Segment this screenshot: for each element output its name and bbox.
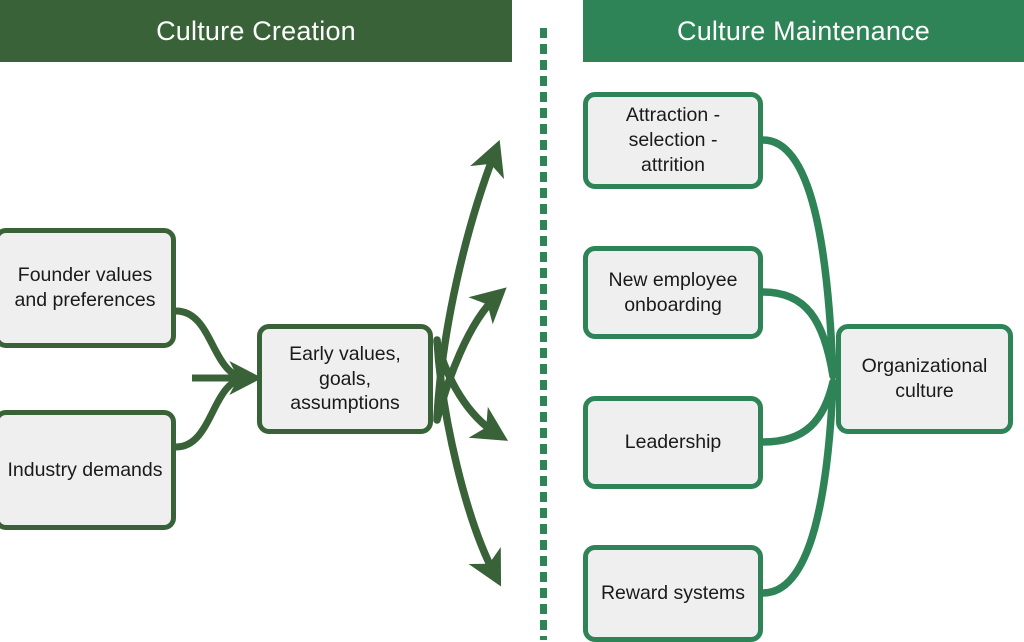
node-industry-demands[interactable]: Industry demands bbox=[0, 410, 176, 530]
node-leadership-label: Leadership bbox=[625, 430, 722, 455]
edge-early-to-attraction bbox=[437, 152, 495, 418]
node-industry-demands-label: Industry demands bbox=[7, 458, 162, 483]
section-header-culture-maintenance-label: Culture Maintenance bbox=[677, 16, 930, 47]
edge-industry-to-early bbox=[176, 378, 248, 447]
node-reward-systems[interactable]: Reward systems bbox=[583, 545, 763, 642]
section-header-culture-maintenance: Culture Maintenance bbox=[583, 0, 1024, 62]
node-attraction-selection-attrition[interactable]: Attraction - selection - attrition bbox=[583, 92, 763, 189]
node-early-values-label: Early values, goals, assumptions bbox=[270, 342, 420, 417]
edge-attraction-to-orgculture bbox=[763, 140, 833, 374]
edge-early-to-leadership bbox=[437, 342, 497, 434]
edge-early-to-reward bbox=[437, 340, 495, 575]
edge-leadership-to-orgculture bbox=[763, 382, 833, 442]
edge-reward-to-orgculture bbox=[763, 384, 833, 593]
node-new-employee-onboarding-label: New employee onboarding bbox=[596, 268, 750, 318]
node-new-employee-onboarding[interactable]: New employee onboarding bbox=[583, 246, 763, 339]
edge-onboarding-to-orgculture bbox=[763, 292, 833, 376]
node-organizational-culture-label: Organizational culture bbox=[849, 354, 1000, 404]
node-attraction-selection-attrition-label: Attraction - selection - attrition bbox=[596, 103, 750, 178]
section-header-culture-creation: Culture Creation bbox=[0, 0, 512, 62]
node-leadership[interactable]: Leadership bbox=[583, 396, 763, 489]
edge-early-to-onboarding bbox=[437, 296, 497, 420]
node-reward-systems-label: Reward systems bbox=[601, 581, 745, 606]
edge-founder-to-early bbox=[176, 311, 248, 378]
node-organizational-culture[interactable]: Organizational culture bbox=[836, 324, 1013, 434]
diagram-canvas: Culture Creation Culture Maintenance Fou… bbox=[0, 0, 1024, 640]
node-early-values[interactable]: Early values, goals, assumptions bbox=[257, 324, 433, 434]
node-founder-values[interactable]: Founder values and preferences bbox=[0, 228, 176, 348]
section-header-culture-creation-label: Culture Creation bbox=[156, 16, 356, 47]
node-founder-values-label: Founder values and preferences bbox=[7, 263, 163, 313]
